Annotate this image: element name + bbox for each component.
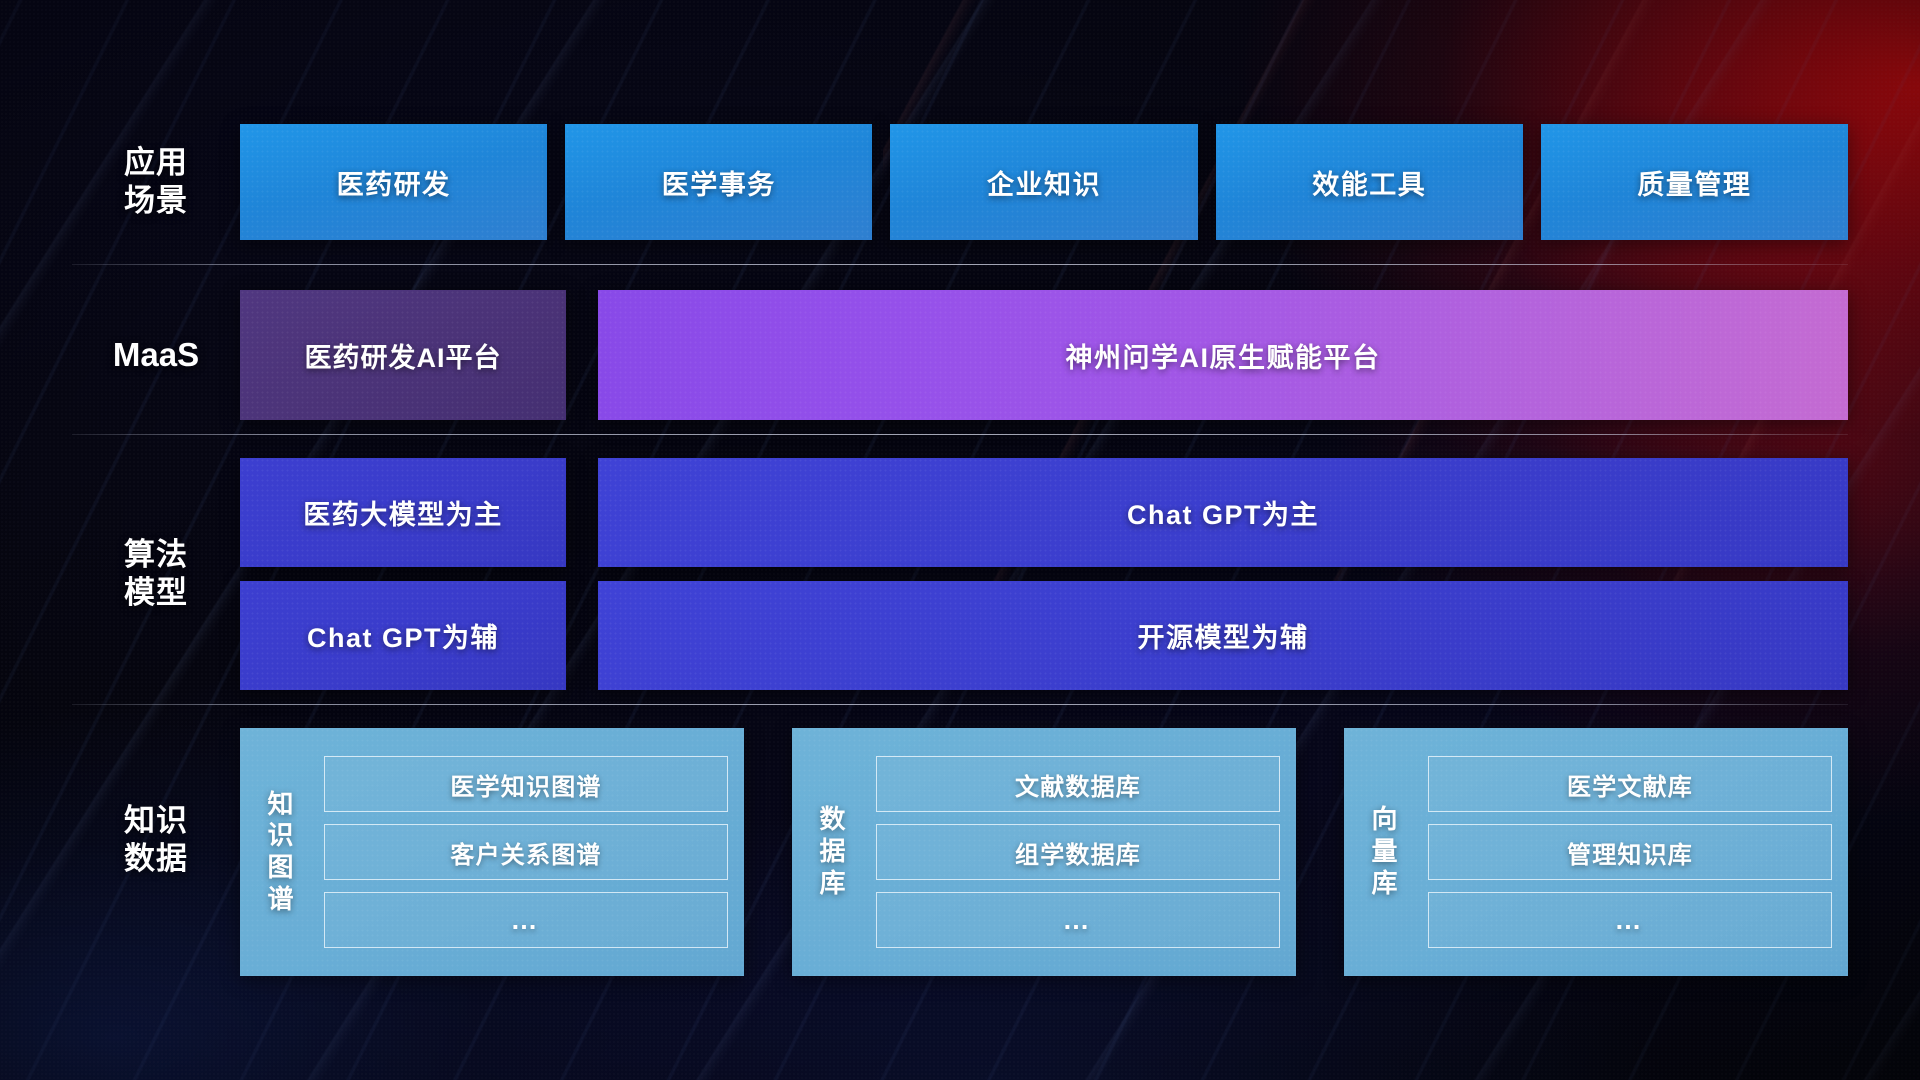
knowledge-item-more[interactable]: … [876,892,1280,948]
knowledge-card-item-list: 医学知识图谱 客户关系图谱 … [312,742,728,962]
algorithm-box-group: 医药大模型为主 Chat GPT为主 Chat GPT为辅 开源模型为辅 [240,458,1848,690]
algorithm-box-label: Chat GPT为辅 [307,616,499,655]
divider-maas-algorithm [72,434,1848,435]
maas-box-medicine-ai-platform[interactable]: 医药研发AI平台 [240,290,566,420]
knowledge-card-item-list: 医学文献库 管理知识库 … [1416,742,1832,962]
knowledge-item[interactable]: 医学文献库 [1428,756,1832,812]
application-box-group: 医药研发 医学事务 企业知识 效能工具 质量管理 [240,124,1848,240]
application-box-label: 质量管理 [1637,163,1751,202]
knowledge-card-item-list: 文献数据库 组学数据库 … [864,742,1280,962]
knowledge-card-vector-store[interactable]: 向 量 库 医学文献库 管理知识库 … [1344,728,1848,976]
knowledge-item[interactable]: 组学数据库 [876,824,1280,880]
algorithm-box-opensource-secondary[interactable]: 开源模型为辅 [598,581,1848,690]
row-label-application-scenarios: 应用 场景 [72,144,240,220]
knowledge-card-label: 数 据 库 [802,742,864,962]
application-box-quality-management[interactable]: 质量管理 [1541,124,1848,240]
knowledge-item[interactable]: 文献数据库 [876,756,1280,812]
application-box-label: 医学事务 [662,163,776,202]
row-knowledge-data: 知识 数据 知 识 图 谱 医学知识图谱 客户关系图谱 … 数 据 库 文献数据… [72,728,1848,976]
algorithm-box-label: 医药大模型为主 [303,493,503,532]
algorithm-box-label: 开源模型为辅 [1138,616,1309,655]
algorithm-box-chatgpt-secondary[interactable]: Chat GPT为辅 [240,581,566,690]
application-box-label: 医药研发 [337,163,451,202]
divider-algorithm-knowledge [72,704,1848,705]
algorithm-line-primary: 医药大模型为主 Chat GPT为主 [240,458,1848,567]
row-maas: MaaS 医药研发AI平台 神州问学AI原生赋能平台 [72,290,1848,420]
application-box-enterprise-knowledge[interactable]: 企业知识 [890,124,1197,240]
algorithm-box-chatgpt-primary[interactable]: Chat GPT为主 [598,458,1848,567]
application-box-efficiency-tools[interactable]: 效能工具 [1216,124,1523,240]
row-label-algorithm-models: 算法 模型 [72,536,240,612]
row-label-knowledge-data: 知识 数据 [72,802,240,878]
knowledge-card-group: 知 识 图 谱 医学知识图谱 客户关系图谱 … 数 据 库 文献数据库 组学数据… [240,728,1848,976]
knowledge-card-label: 向 量 库 [1354,742,1416,962]
knowledge-card-label: 知 识 图 谱 [250,742,312,962]
maas-box-group: 医药研发AI平台 神州问学AI原生赋能平台 [240,290,1848,420]
application-box-label: 效能工具 [1312,163,1426,202]
algorithm-line-secondary: Chat GPT为辅 开源模型为辅 [240,581,1848,690]
maas-box-shenzhou-wenxue-platform[interactable]: 神州问学AI原生赋能平台 [598,290,1848,420]
knowledge-item-more[interactable]: … [324,892,728,948]
knowledge-item[interactable]: 客户关系图谱 [324,824,728,880]
row-label-maas: MaaS [72,335,240,375]
application-box-medicine-rd[interactable]: 医药研发 [240,124,547,240]
knowledge-item[interactable]: 管理知识库 [1428,824,1832,880]
algorithm-box-medicine-llm-primary[interactable]: 医药大模型为主 [240,458,566,567]
diagram-canvas: 应用 场景 医药研发 医学事务 企业知识 效能工具 质量管理 [0,0,1920,1080]
knowledge-card-database[interactable]: 数 据 库 文献数据库 组学数据库 … [792,728,1296,976]
maas-box-label: 神州问学AI原生赋能平台 [1066,336,1381,375]
knowledge-item[interactable]: 医学知识图谱 [324,756,728,812]
knowledge-card-knowledge-graph[interactable]: 知 识 图 谱 医学知识图谱 客户关系图谱 … [240,728,744,976]
maas-box-label: 医药研发AI平台 [305,336,502,375]
row-algorithm-models: 算法 模型 医药大模型为主 Chat GPT为主 Chat GPT为辅 开源模型… [72,458,1848,690]
application-box-label: 企业知识 [987,163,1101,202]
algorithm-box-label: Chat GPT为主 [1127,493,1319,532]
application-box-medical-affairs[interactable]: 医学事务 [565,124,872,240]
diagram-content: 应用 场景 医药研发 医学事务 企业知识 效能工具 质量管理 [0,0,1920,1080]
knowledge-item-more[interactable]: … [1428,892,1832,948]
divider-application-maas [72,264,1848,265]
row-application-scenarios: 应用 场景 医药研发 医学事务 企业知识 效能工具 质量管理 [72,124,1848,240]
